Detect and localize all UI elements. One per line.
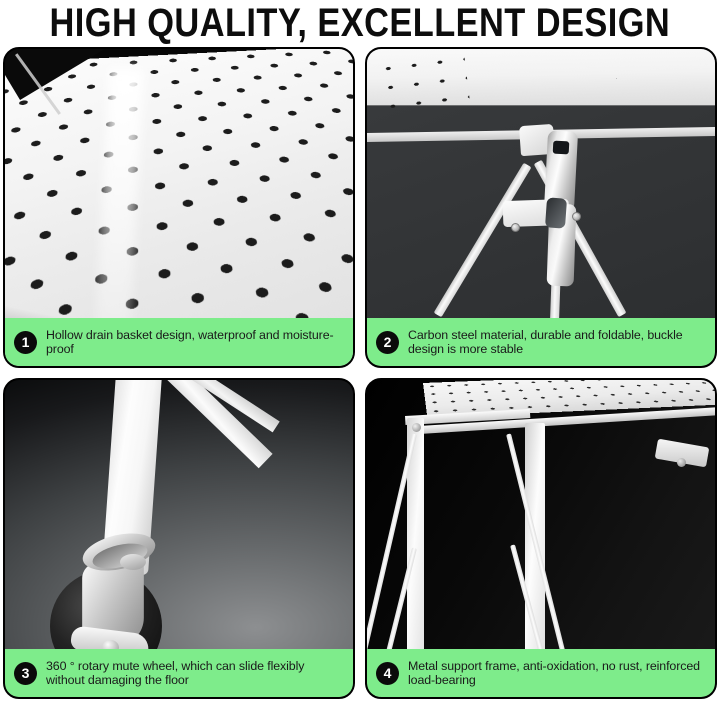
panel-caption-text-3: 360 ° rotary mute wheel, which can slide… (46, 659, 343, 688)
feature-panel-3: 3 360 ° rotary mute wheel, which can sli… (3, 378, 355, 699)
panel-caption-1: 1 Hollow drain basket design, waterproof… (5, 318, 353, 366)
feature-panel-1: 1 Hollow drain basket design, waterproof… (3, 47, 355, 368)
panel-number-badge-1: 1 (14, 331, 37, 354)
page-title-bar: HIGH QUALITY, EXCELLENT DESIGN (0, 0, 720, 46)
infographic-root: HIGH QUALITY, EXCELLENT DESIGN 1 Hollow … (0, 0, 720, 715)
panel-caption-text-4: Metal support frame, anti-oxidation, no … (408, 659, 705, 688)
buckle-clamp-slot (553, 141, 570, 155)
panel-number-badge-2: 2 (376, 331, 399, 354)
panel-caption-text-2: Carbon steel material, durable and folda… (408, 328, 705, 357)
panel-caption-4: 4 Metal support frame, anti-oxidation, n… (367, 649, 715, 697)
panel-number-badge-3: 3 (14, 662, 37, 685)
panel-caption-2: 2 Carbon steel material, durable and fol… (367, 318, 715, 366)
screw-top-left (412, 423, 421, 432)
buckle-lever (545, 197, 567, 228)
panel-caption-text-1: Hollow drain basket design, waterproof a… (46, 328, 343, 357)
feature-panel-2: 2 Carbon steel material, durable and fol… (365, 47, 717, 368)
feature-panel-4: 4 Metal support frame, anti-oxidation, n… (365, 378, 717, 699)
panel-number-badge-4: 4 (376, 662, 399, 685)
screw-right (677, 458, 686, 467)
panel-caption-3: 3 360 ° rotary mute wheel, which can sli… (5, 649, 353, 697)
page-title: HIGH QUALITY, EXCELLENT DESIGN (50, 3, 671, 43)
feature-panel-grid: 1 Hollow drain basket design, waterproof… (3, 47, 717, 713)
